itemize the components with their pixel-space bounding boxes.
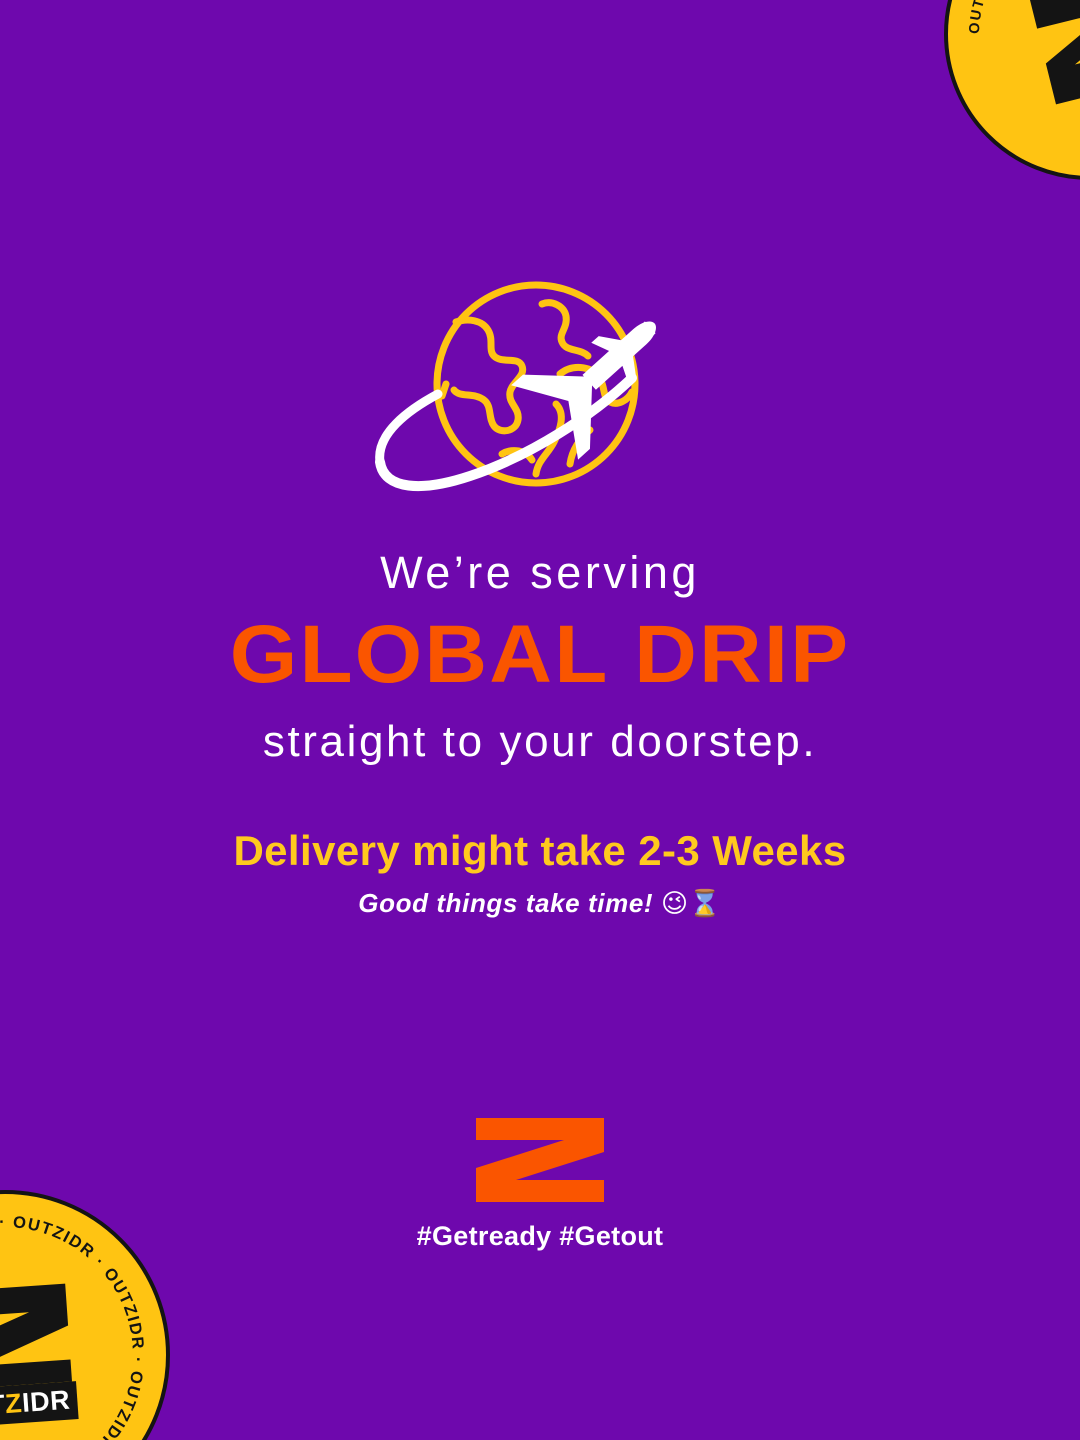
z-glyph-icon xyxy=(1014,0,1080,113)
copy-block: We’re serving GLOBAL DRIP straight to yo… xyxy=(0,548,1080,920)
z-glyph-icon xyxy=(0,1281,76,1394)
wordmark-part-post: IDR xyxy=(21,1385,71,1418)
hashtags-text: #Getready #Getout xyxy=(0,1221,1080,1252)
headline-text: GLOBAL DRIP xyxy=(0,612,1080,698)
badge-top-right: OUTZIDR · OUTZIDR · OUTZIDR · OUTZIDR · … xyxy=(944,0,1080,180)
poster-canvas: OUTZIDR · OUTZIDR · OUTZIDR · OUTZIDR · … xyxy=(0,0,1080,1440)
delivery-note-text: Delivery might take 2-3 Weeks xyxy=(0,828,1080,874)
reassurance-line: Good things take time! 😉⌛ xyxy=(0,888,1080,920)
globe-airplane-icon xyxy=(360,278,720,518)
outzidr-z-logo-icon xyxy=(476,1118,604,1202)
eyebrow-text: We’re serving xyxy=(0,548,1080,598)
wordmark-part-z: Z xyxy=(4,1388,23,1419)
badge-mark-bottom-left: OUTZIDR xyxy=(0,1281,79,1428)
subhead-text: straight to your doorstep. xyxy=(0,718,1080,766)
winking-face-icon: 😉 xyxy=(661,889,689,919)
reassurance-text: Good things take time! xyxy=(358,888,653,918)
hourglass-icon: ⌛ xyxy=(689,889,722,919)
footer-block: #Getready #Getout xyxy=(0,1118,1080,1252)
badge-mark-top-right xyxy=(1014,0,1080,113)
